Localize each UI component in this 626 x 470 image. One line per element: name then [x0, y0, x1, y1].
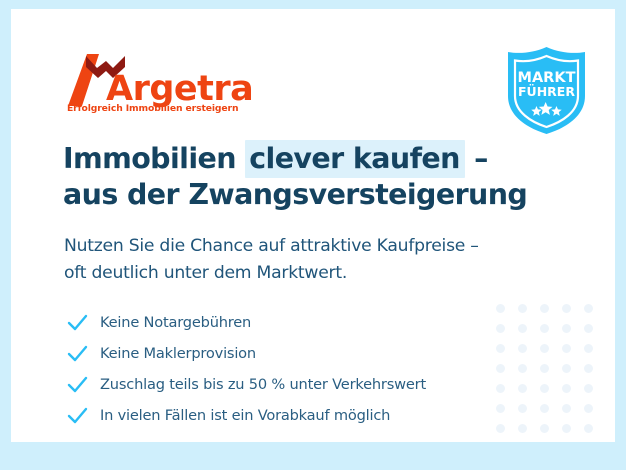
decorative-dot — [584, 404, 593, 413]
decorative-dot — [562, 384, 571, 393]
decorative-dot — [540, 344, 549, 353]
benefit-label: In vielen Fällen ist ein Vorabkauf mögli… — [100, 407, 390, 424]
decorative-dot — [562, 404, 571, 413]
subheadline: Nutzen Sie die Chance auf attraktive Kau… — [64, 233, 544, 287]
decorative-dot — [540, 384, 549, 393]
badge-line2: FÜHRER — [518, 84, 575, 99]
headline-line2: aus der Zwangsversteigerung — [63, 178, 527, 211]
subheadline-line2: oft deutlich unter dem Marktwert. — [64, 263, 347, 283]
decorative-dot — [562, 424, 571, 433]
decorative-dot — [540, 324, 549, 333]
check-icon — [66, 404, 89, 427]
check-icon — [66, 373, 89, 396]
benefit-label: Keine Maklerprovision — [100, 345, 256, 362]
decorative-dot — [584, 424, 593, 433]
logo-tagline: Erfolgreich Immobilien ersteigern — [67, 103, 238, 114]
benefit-label: Zuschlag teils bis zu 50 % unter Verkehr… — [100, 376, 426, 393]
benefit-label: Keine Notargebühren — [100, 314, 251, 331]
decorative-dot — [540, 424, 549, 433]
list-item: Keine Maklerprovision — [66, 338, 536, 369]
decorative-dot — [584, 324, 593, 333]
page-title: Immobilien clever kaufen –aus der Zwangs… — [63, 141, 533, 213]
list-item: In vielen Fällen ist ein Vorabkauf mögli… — [66, 400, 536, 431]
decorative-dot — [562, 304, 571, 313]
decorative-dot — [540, 304, 549, 313]
decorative-dot — [584, 304, 593, 313]
headline-part2: – — [465, 142, 488, 175]
argetra-logo: Argetra Erfolgreich Immobilien ersteiger… — [66, 54, 266, 126]
decorative-dot — [584, 344, 593, 353]
logo-wordmark: Argetra — [106, 72, 253, 107]
decorative-dot — [540, 404, 549, 413]
decorative-dot — [540, 364, 549, 373]
check-icon — [66, 311, 89, 334]
banner-card: Argetra Erfolgreich Immobilien ersteiger… — [11, 9, 615, 442]
benefit-list: Keine Notargebühren Keine Maklerprovisio… — [66, 307, 536, 431]
decorative-dot — [562, 364, 571, 373]
list-item: Keine Notargebühren — [66, 307, 536, 338]
decorative-dot — [562, 344, 571, 353]
decorative-dot — [584, 384, 593, 393]
decorative-dot — [584, 364, 593, 373]
headline-part1: Immobilien — [63, 142, 245, 175]
list-item: Zuschlag teils bis zu 50 % unter Verkehr… — [66, 369, 536, 400]
headline-highlight: clever kaufen — [245, 140, 465, 178]
subheadline-line1: Nutzen Sie die Chance auf attraktive Kau… — [64, 236, 479, 256]
promo-banner: Argetra Erfolgreich Immobilien ersteiger… — [0, 0, 626, 470]
check-icon — [66, 342, 89, 365]
decorative-dot — [562, 324, 571, 333]
market-leader-badge: MARKT FÜHRER — [500, 44, 593, 137]
